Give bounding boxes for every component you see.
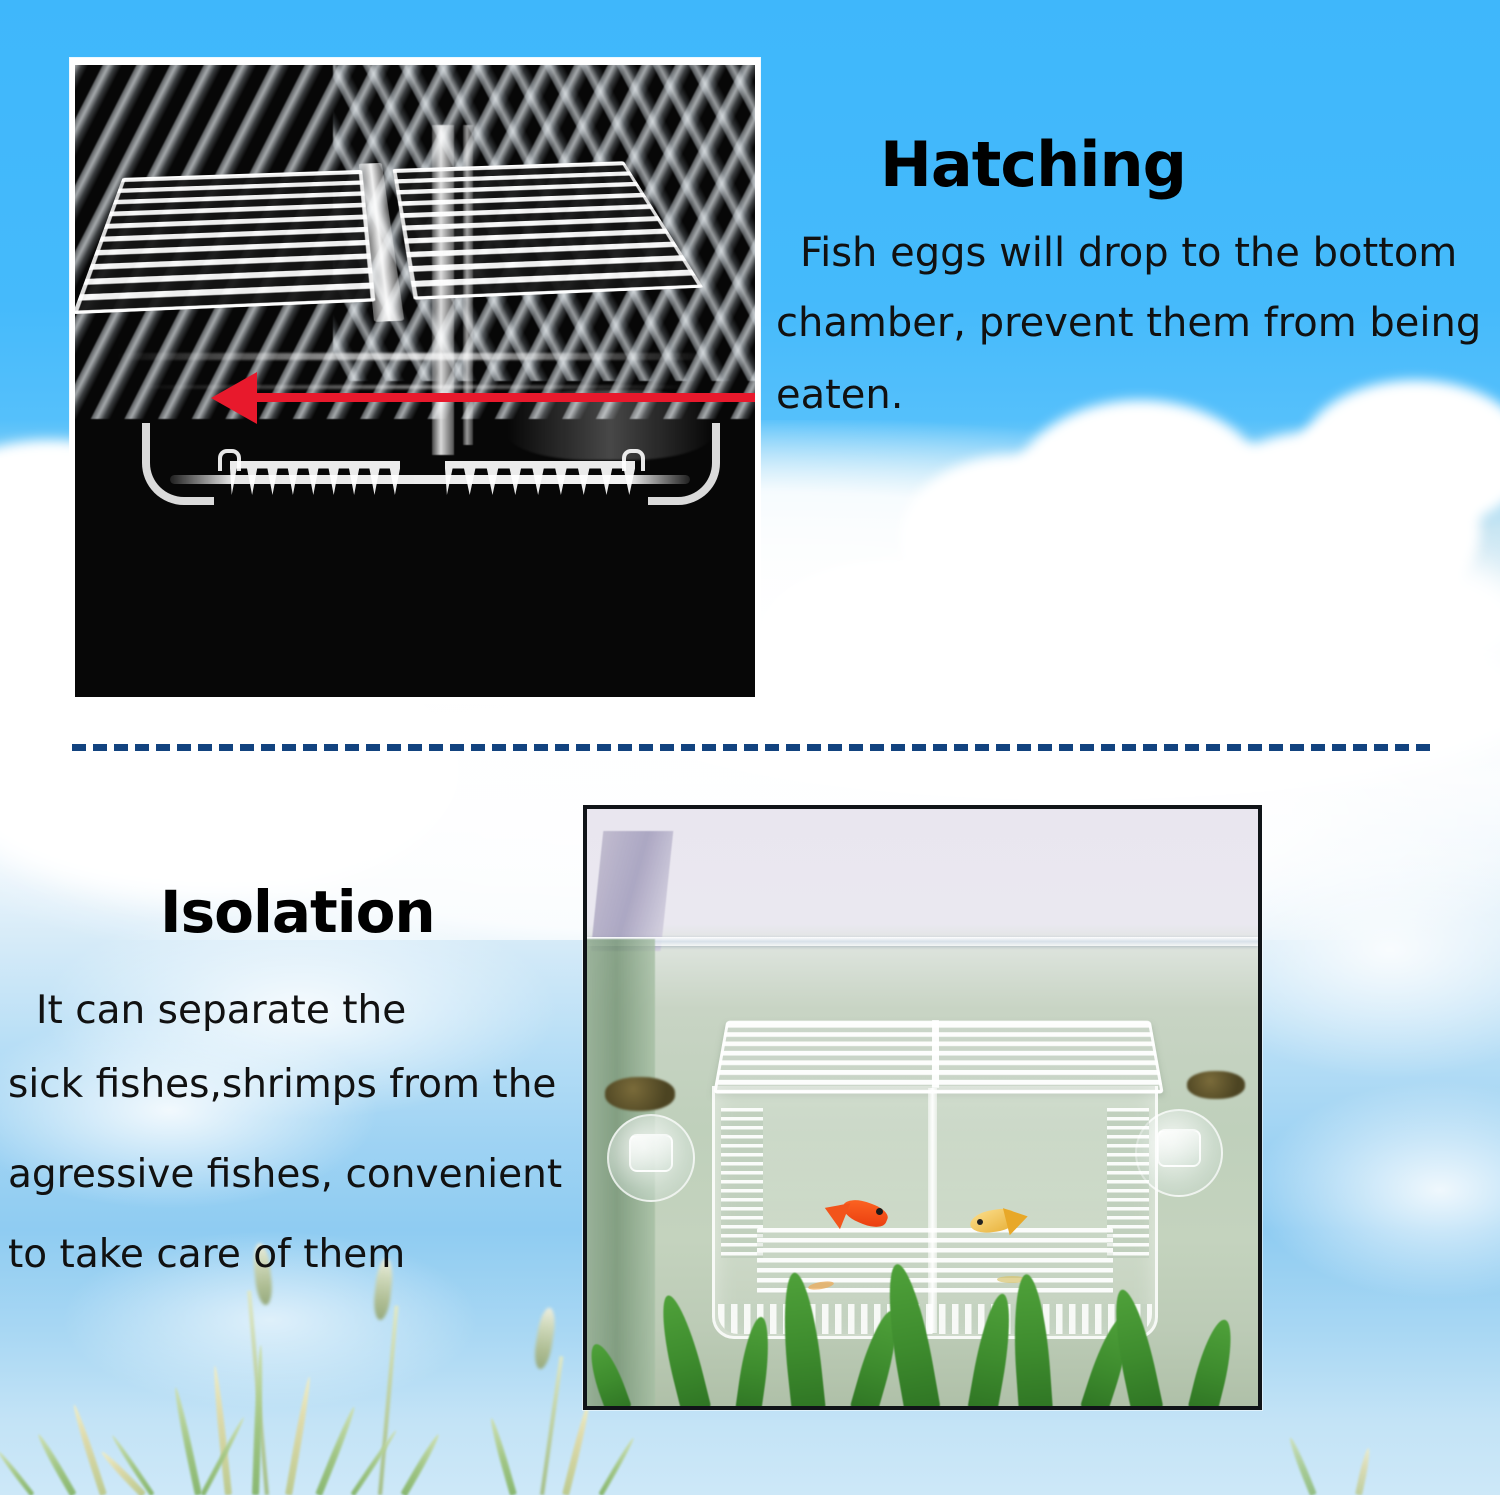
- grass-blade: [71, 1404, 107, 1495]
- product-closeup-photo: [70, 58, 760, 703]
- grass-blade: [172, 1387, 202, 1495]
- moss-clump: [1187, 1071, 1245, 1099]
- breeder-box-lid: [75, 161, 704, 314]
- grass-stalk: [540, 1356, 563, 1495]
- section-divider: [72, 744, 1430, 751]
- breeder-lid-split: [932, 1020, 939, 1088]
- grass-blade: [285, 1376, 313, 1495]
- center-divider-panel: [928, 1088, 937, 1333]
- grass-blade: [488, 1417, 517, 1495]
- aquarium-plant: [653, 1292, 711, 1406]
- photo-content: [75, 65, 755, 697]
- aquarium-plant: [1187, 1316, 1239, 1406]
- lip-curve-right: [648, 423, 720, 505]
- grass-blade: [400, 1433, 441, 1495]
- tank-corner-brace: [591, 831, 674, 951]
- grass-stalk: [378, 1306, 399, 1495]
- suction-cup-nub: [629, 1134, 673, 1172]
- acrylic-sheen: [115, 353, 715, 360]
- moss-clump: [605, 1077, 675, 1111]
- isolation-text-line-3: agressive fishes, convenient: [8, 1152, 562, 1197]
- hatching-text-line-1: Fish eggs will drop to the bottom: [800, 230, 1457, 276]
- hatching-text-line-2: chamber, prevent them from being: [776, 300, 1481, 346]
- box-divider-bar: [432, 125, 454, 455]
- grass-seedhead: [532, 1307, 558, 1371]
- grass-blade: [35, 1433, 76, 1495]
- lip-hook-left: [218, 449, 241, 471]
- lip-curve-left: [142, 423, 214, 505]
- photo-content: [587, 809, 1258, 1406]
- grass-blade: [1287, 1436, 1317, 1495]
- isolation-text-line-2: sick fishes,shrimps from the: [8, 1062, 556, 1107]
- side-grill-right: [1107, 1108, 1149, 1258]
- grass-blade: [350, 1429, 398, 1495]
- water-surface-line: [587, 937, 1258, 946]
- breeder-box-bottom-lip: [170, 435, 690, 525]
- lid-grill-left: [75, 170, 376, 314]
- hatching-heading: Hatching: [880, 128, 1186, 201]
- grass-blade: [562, 1401, 592, 1495]
- grass-blade: [1355, 1447, 1372, 1495]
- fish-eye: [977, 1219, 983, 1225]
- grass-blade: [598, 1437, 635, 1495]
- fish-eye: [876, 1208, 883, 1215]
- grass-blade: [0, 1450, 34, 1495]
- grass-blade: [315, 1406, 357, 1495]
- suction-cup-nub: [1157, 1129, 1201, 1167]
- aquarium-installed-photo: [583, 805, 1262, 1410]
- isolation-heading: Isolation: [160, 878, 435, 946]
- hatching-text-line-3: eaten.: [776, 372, 903, 418]
- lip-hook-right: [622, 449, 645, 471]
- grass-cluster-far-right: [1270, 1345, 1500, 1495]
- lip-rail: [170, 475, 690, 484]
- annotation-arrow-head: [211, 372, 257, 424]
- isolation-text-line-4: to take care of them: [8, 1232, 405, 1277]
- isolation-text-line-1: It can separate the: [36, 988, 406, 1033]
- suction-cup-left: [607, 1114, 695, 1202]
- breeder-box: [712, 1014, 1152, 1344]
- annotation-arrow-line: [255, 393, 755, 402]
- infographic-page: Hatching Fish eggs will drop to the bott…: [0, 0, 1500, 1495]
